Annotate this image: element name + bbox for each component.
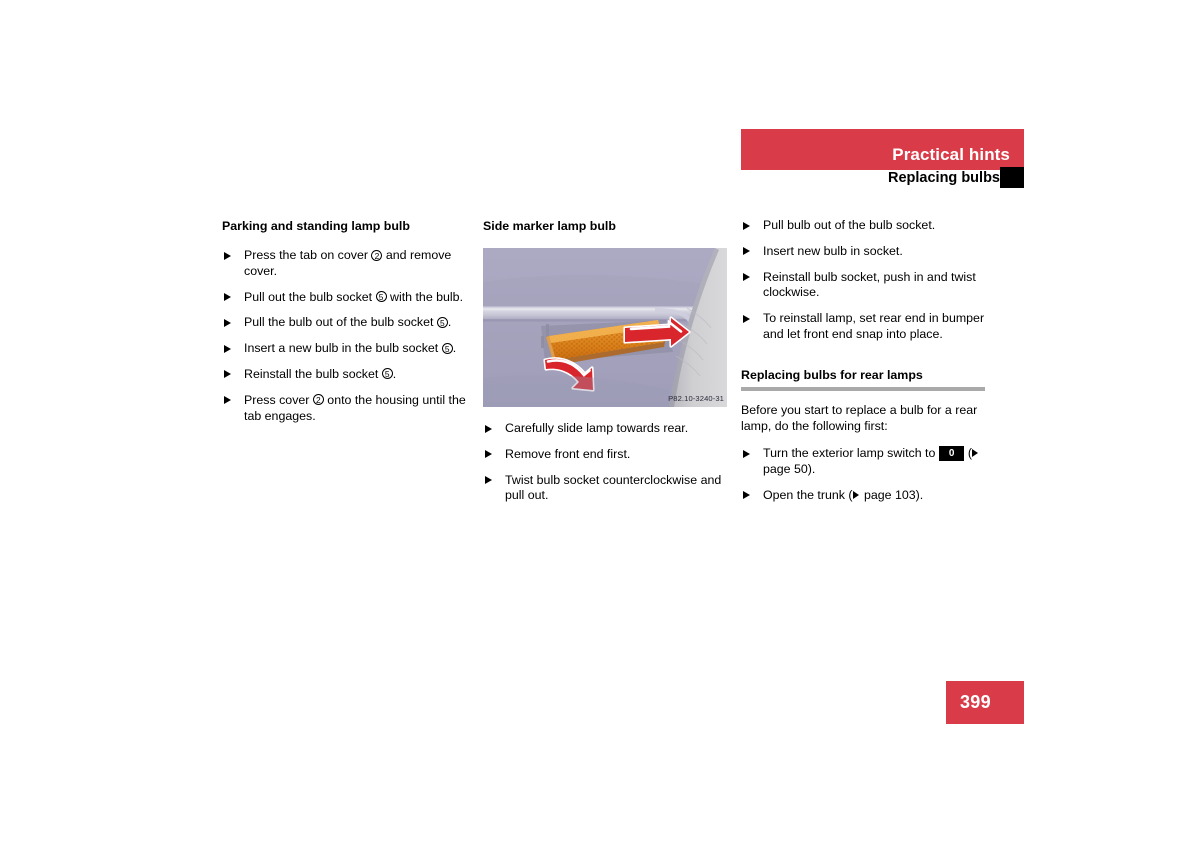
figure-caption: P82.10-3240-31	[668, 394, 724, 403]
step-item: Pull out the bulb socket 5 with the bulb…	[222, 290, 468, 306]
step-item: To reinstall lamp, set rear end in bumpe…	[741, 311, 985, 343]
column-3-step-list-top: Pull bulb out of the bulb socket.Insert …	[741, 218, 985, 343]
page-number-box: 399	[946, 681, 1024, 724]
column-1-heading: Parking and standing lamp bulb	[222, 218, 468, 234]
page-reference-triangle-icon	[853, 491, 859, 499]
bullet-triangle-icon	[743, 491, 750, 499]
bullet-triangle-icon	[224, 345, 231, 353]
step-item: Insert new bulb in socket.	[741, 244, 985, 260]
step-item: Carefully slide lamp towards rear.	[483, 421, 729, 437]
column-3-intro-text: Before you start to replace a bulb for a…	[741, 403, 985, 435]
side-marker-lamp-figure: P82.10-3240-31	[483, 248, 727, 407]
step-item: Turn the exterior lamp switch to 0 ( pag…	[741, 446, 985, 478]
step-item: Pull bulb out of the bulb socket.	[741, 218, 985, 234]
chapter-title: Practical hints	[892, 145, 1010, 165]
step-item: Press the tab on cover 2 and remove cove…	[222, 248, 468, 280]
bullet-triangle-icon	[224, 293, 231, 301]
step-item: Insert a new bulb in the bulb socket 5.	[222, 341, 468, 357]
circled-reference-5: 5	[437, 317, 448, 328]
step-item: Pull the bulb out of the bulb socket 5.	[222, 315, 468, 331]
bullet-triangle-icon	[485, 425, 492, 433]
circled-reference-5: 5	[442, 343, 453, 354]
bullet-triangle-icon	[743, 450, 750, 458]
circled-reference-5: 5	[382, 368, 393, 379]
content-column-3: Pull bulb out of the bulb socket.Insert …	[741, 218, 985, 504]
step-item: Reinstall bulb socket, push in and twist…	[741, 270, 985, 302]
bullet-triangle-icon	[743, 315, 750, 323]
step-item: Reinstall the bulb socket 5.	[222, 367, 468, 383]
page-reference-triangle-icon	[972, 449, 978, 457]
side-marker-lamp-illustration	[483, 248, 727, 407]
bullet-triangle-icon	[224, 252, 231, 260]
header-red-banner: Practical hints	[741, 129, 1024, 170]
column-2-heading: Side marker lamp bulb	[483, 218, 729, 234]
content-column-1: Parking and standing lamp bulb Press the…	[222, 218, 468, 424]
bullet-triangle-icon	[485, 476, 492, 484]
column-1-step-list: Press the tab on cover 2 and remove cove…	[222, 248, 468, 424]
circled-reference-5: 5	[376, 291, 387, 302]
bullet-triangle-icon	[743, 222, 750, 230]
bullet-triangle-icon	[224, 370, 231, 378]
step-item: Press cover 2 onto the housing until the…	[222, 393, 468, 425]
column-3-heading: Replacing bulbs for rear lamps	[741, 367, 985, 383]
step-item: Remove front end first.	[483, 447, 729, 463]
bullet-triangle-icon	[743, 273, 750, 281]
page-number: 399	[960, 692, 991, 713]
lamp-switch-off-badge: 0	[939, 446, 965, 461]
chapter-tab-marker	[1000, 167, 1024, 188]
column-2-step-list: Carefully slide lamp towards rear.Remove…	[483, 421, 729, 504]
circled-reference-2: 2	[371, 250, 382, 261]
content-column-2: Side marker lamp bulb	[483, 218, 729, 504]
column-3-step-list-bottom: Turn the exterior lamp switch to 0 ( pag…	[741, 446, 985, 503]
step-item: Open the trunk ( page 103).	[741, 488, 985, 504]
bullet-triangle-icon	[743, 247, 750, 255]
bullet-triangle-icon	[485, 450, 492, 458]
section-title: Replacing bulbs	[741, 169, 1000, 188]
bullet-triangle-icon	[224, 319, 231, 327]
heading-divider	[741, 387, 985, 391]
circled-reference-2: 2	[313, 394, 324, 405]
step-item: Twist bulb socket counterclockwise and p…	[483, 473, 729, 505]
bullet-triangle-icon	[224, 396, 231, 404]
